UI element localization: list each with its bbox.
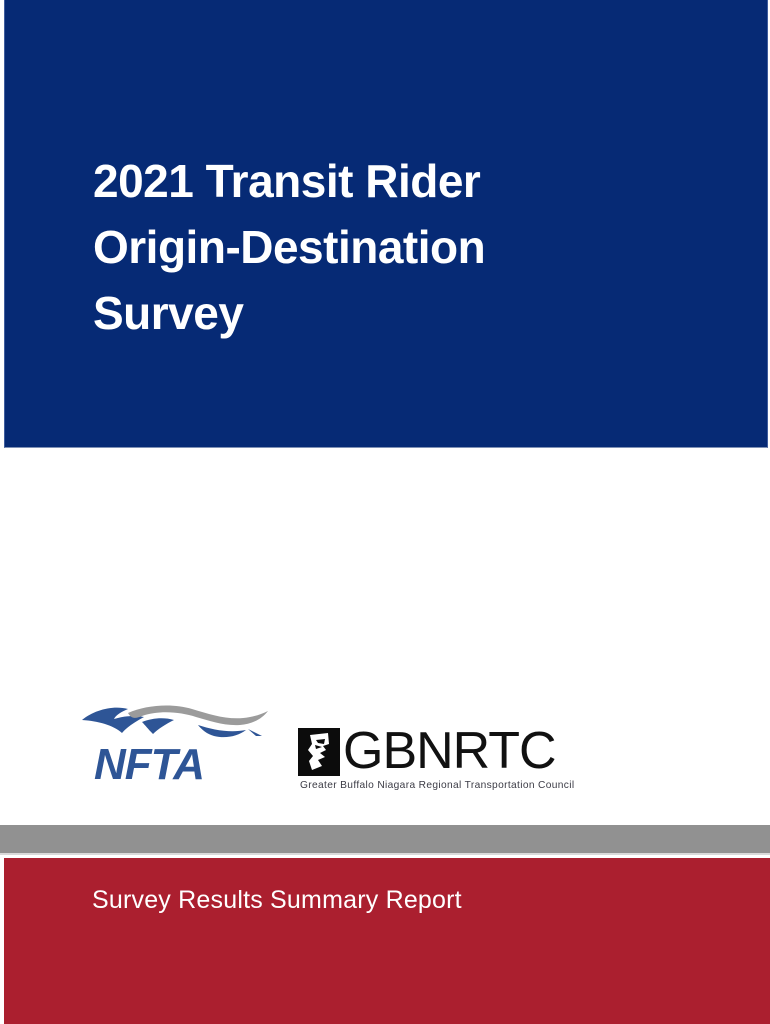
nfta-wordmark: NFTA: [94, 741, 254, 787]
gbnrtc-wordmark: GBNRTC: [343, 726, 556, 776]
gbnrtc-tagline: Greater Buffalo Niagara Regional Transpo…: [300, 780, 574, 791]
nfta-logo: NFTA: [80, 703, 270, 791]
gray-divider-shadow: [0, 853, 770, 855]
header-band: 2021 Transit Rider Origin-Destination Su…: [4, 0, 768, 448]
gbnrtc-county-map-icon: [298, 728, 340, 776]
nfta-bird-icon: [80, 703, 270, 745]
footer-caption: Survey Results Summary Report: [92, 886, 462, 915]
svg-text:NFTA: NFTA: [94, 741, 204, 787]
gbnrtc-logo: GBNRTC Greater Buffalo Niagara Regional …: [298, 728, 588, 798]
footer-banner: Survey Results Summary Report: [4, 858, 770, 1024]
gray-divider-bar: [0, 825, 770, 853]
page-title: 2021 Transit Rider Origin-Destination Su…: [93, 148, 693, 347]
report-cover-page: 2021 Transit Rider Origin-Destination Su…: [0, 0, 770, 1024]
logo-row: NFTA GBNRTC Greater Buffalo Niagara Regi…: [0, 695, 770, 815]
